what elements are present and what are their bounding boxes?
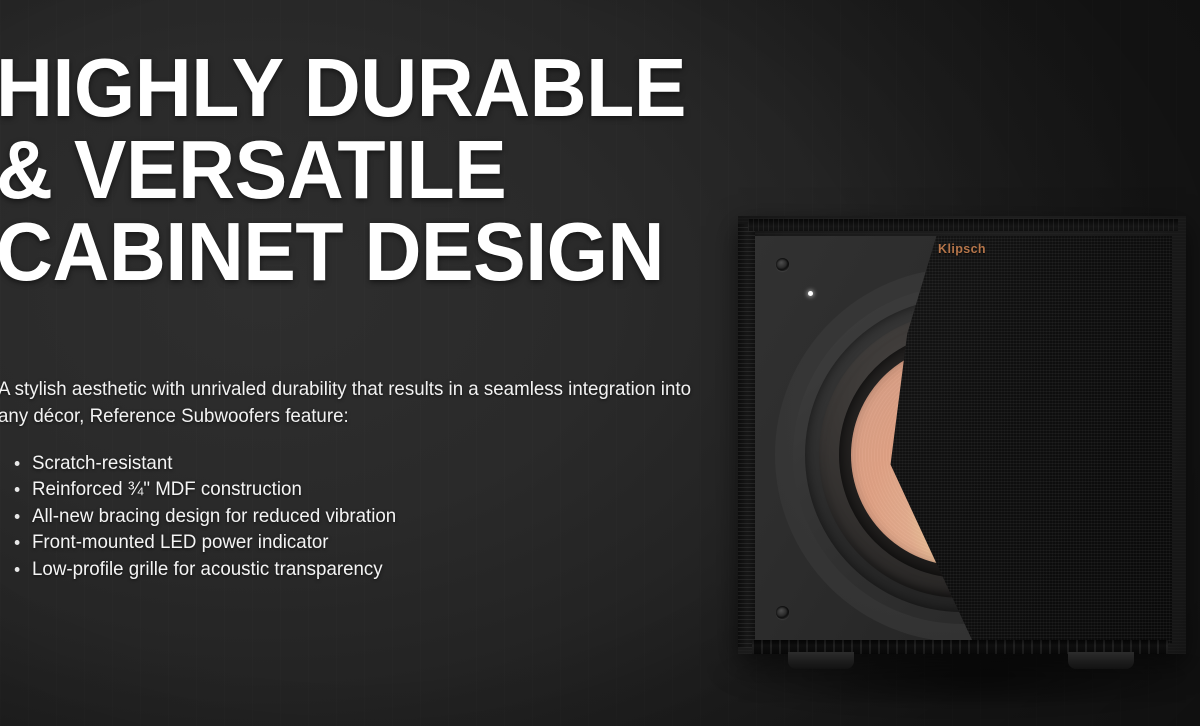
grille-mount-screw-top-left — [776, 258, 789, 271]
feature-list: Scratch-resistant Reinforced ¾" MDF cons… — [0, 450, 592, 582]
cabinet-left-edge — [738, 224, 755, 648]
intro-paragraph: A stylish aesthetic with unrivaled durab… — [0, 376, 695, 430]
klipsch-logo: Klipsch — [738, 242, 1186, 256]
page-title: HIGHLY DURABLE & VERSATILE CABINET DESIG… — [0, 47, 699, 293]
led-power-indicator — [808, 291, 813, 296]
cabinet-top-edge — [748, 219, 1178, 231]
list-item: All-new bracing design for reduced vibra… — [32, 503, 570, 529]
list-item: Front-mounted LED power indicator — [32, 529, 570, 555]
cabinet-foot-right — [1068, 652, 1134, 669]
promo-banner: HIGHLY DURABLE & VERSATILE CABINET DESIG… — [0, 0, 1200, 726]
list-item: Scratch-resistant — [32, 450, 570, 476]
cabinet-foot-left — [788, 652, 854, 669]
grille-mount-screw-bottom-left — [776, 606, 789, 619]
list-item: Reinforced ¾" MDF construction — [32, 476, 570, 502]
subwoofer-product-image: Klipsch — [738, 216, 1186, 668]
list-item: Low-profile grille for acoustic transpar… — [32, 556, 570, 582]
copy-block: HIGHLY DURABLE & VERSATILE CABINET DESIG… — [0, 0, 740, 726]
